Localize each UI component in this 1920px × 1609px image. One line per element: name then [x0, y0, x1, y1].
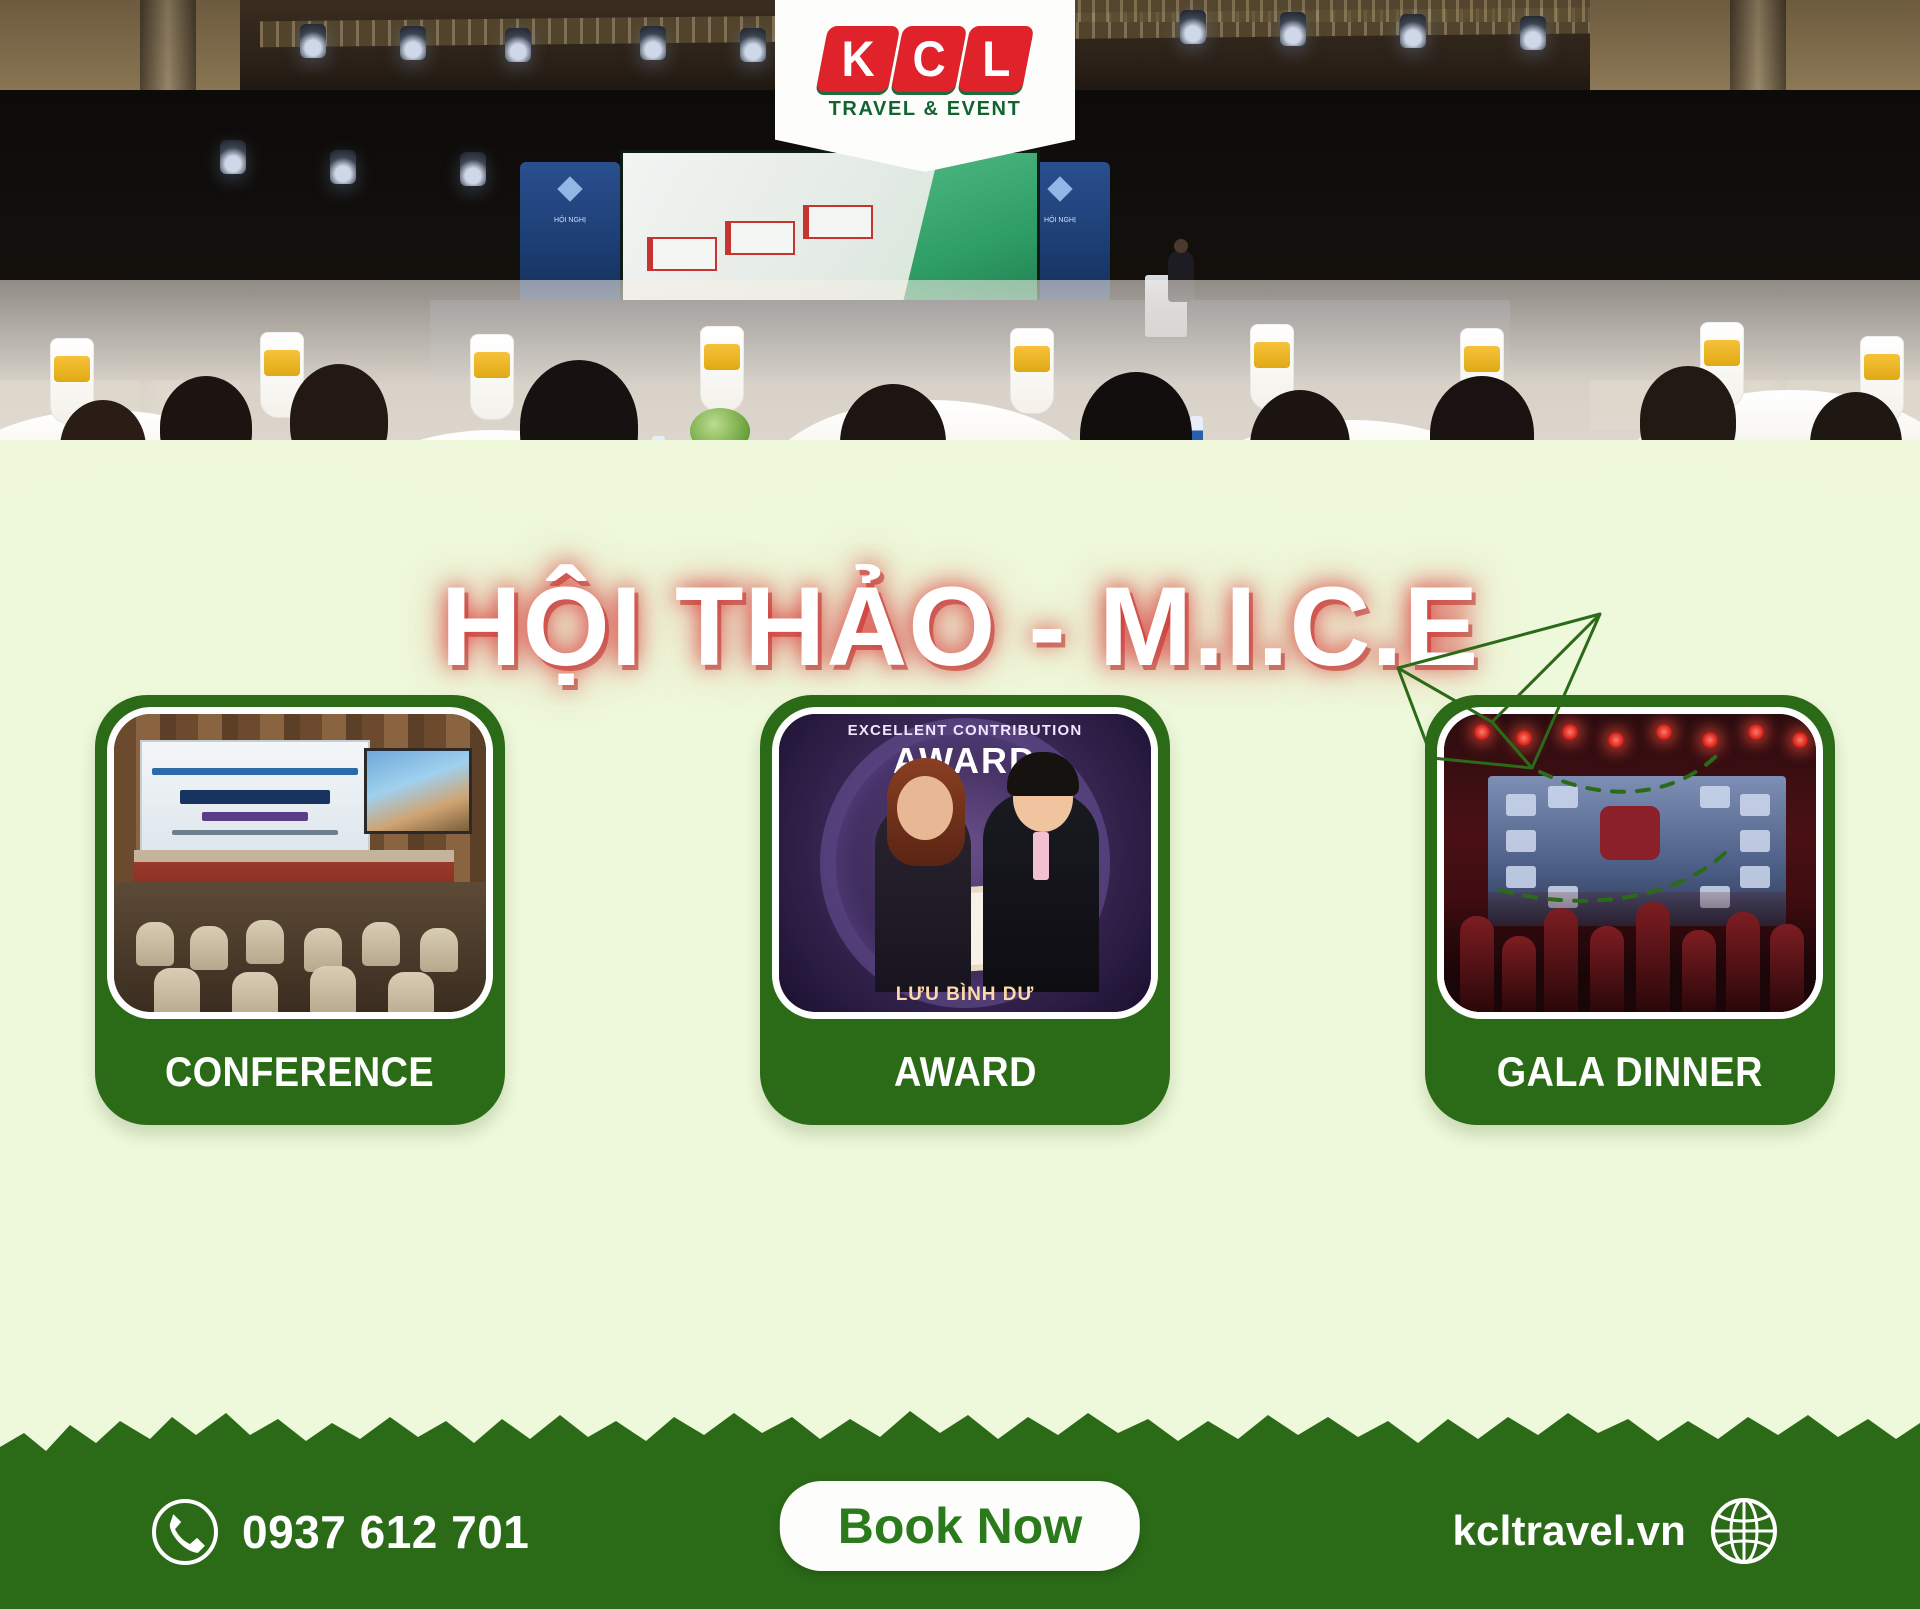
- logo-letter-l: L: [958, 26, 1035, 92]
- photo-chair: [362, 922, 400, 966]
- crowd-person: [1544, 908, 1578, 1012]
- stage-light: [220, 140, 246, 174]
- photo-chair: [246, 920, 284, 964]
- photo-chair: [310, 966, 356, 1016]
- card-conference-photo: [107, 707, 493, 1019]
- card-conference-label: CONFERENCE: [165, 1019, 434, 1125]
- website-link[interactable]: kcltravel.vn: [1452, 1495, 1780, 1567]
- photo-banner-screen: [140, 740, 370, 858]
- photo-chair: [136, 922, 174, 966]
- spotlight: [1520, 16, 1546, 50]
- stage-light: [460, 152, 486, 186]
- screen-bar: [647, 237, 717, 271]
- banner-line: [202, 812, 308, 821]
- paper-plane-icon: [1380, 590, 1910, 920]
- card-conference[interactable]: CONFERENCE: [95, 695, 505, 1125]
- crowd-person: [1502, 936, 1536, 1012]
- screen-bar: [803, 205, 873, 239]
- chair: [1010, 328, 1054, 414]
- book-now-button[interactable]: Book Now: [780, 1481, 1140, 1571]
- website-url: kcltravel.vn: [1452, 1507, 1686, 1555]
- screen-content-bars: [647, 195, 907, 275]
- chair: [470, 334, 514, 420]
- photo-chair: [388, 972, 434, 1019]
- phone-number: 0937 612 701: [242, 1505, 529, 1559]
- photo-chair: [420, 928, 458, 972]
- phone-icon: [150, 1497, 220, 1567]
- logo-letter-k-text: K: [841, 34, 874, 84]
- card-award-label: AWARD: [894, 1019, 1037, 1125]
- brand-logo-badge[interactable]: K C L TRAVEL & EVENT: [775, 0, 1075, 172]
- banner-line: [180, 790, 330, 804]
- photo-side-tv: [364, 748, 472, 834]
- award-photo-top-text: EXCELLENT CONTRIBUTION: [779, 722, 1151, 739]
- chair: [700, 326, 744, 412]
- brand-tagline: TRAVEL & EVENT: [829, 98, 1022, 121]
- stage-light: [330, 150, 356, 184]
- photo-chair: [232, 972, 278, 1019]
- award-person-left-face: [897, 776, 953, 840]
- plane-trail-dashes: [1500, 846, 1732, 901]
- crowd-person: [1770, 924, 1804, 1012]
- crowd-person: [1590, 926, 1624, 1012]
- logo-letter-l-text: L: [982, 34, 1010, 84]
- award-photo-bottom-text: LƯU BÌNH DƯ: [779, 984, 1151, 1006]
- logo-letter-k: K: [816, 26, 901, 92]
- logo-letter-c-text: C: [912, 34, 945, 84]
- kcl-wordmark: K C L: [822, 26, 1028, 92]
- banner-line: [172, 830, 338, 835]
- spotlight: [400, 26, 426, 60]
- screen-bar: [725, 221, 795, 255]
- contact-phone[interactable]: 0937 612 701: [150, 1497, 529, 1567]
- screen-logo-icon: [1047, 176, 1072, 201]
- side-screen-text: HỘI NGHỊ: [528, 216, 612, 227]
- spotlight: [300, 24, 326, 58]
- crowd-person: [1682, 930, 1716, 1012]
- photo-chair: [154, 968, 200, 1018]
- globe-icon: [1708, 1495, 1780, 1567]
- spotlight: [1180, 10, 1206, 44]
- spotlight: [1400, 14, 1426, 48]
- card-award-photo: EXCELLENT CONTRIBUTION AWARD LƯU BÌNH DƯ: [772, 707, 1158, 1019]
- crowd-person: [1460, 916, 1494, 1012]
- spotlight: [505, 28, 531, 62]
- banner-line: [152, 768, 358, 775]
- photo-chair: [190, 926, 228, 970]
- spotlight: [740, 28, 766, 62]
- award-photo-main-text: AWARD: [779, 740, 1151, 782]
- boutonniere: [1033, 832, 1049, 880]
- logo-letter-c: C: [891, 26, 968, 92]
- crowd-person: [1726, 912, 1760, 1012]
- poster-canvas: HỘI NGHỊ HỘI NGHỊ: [0, 0, 1920, 1609]
- spotlight: [1280, 12, 1306, 46]
- spotlight: [640, 26, 666, 60]
- plane-trail-dashes: [1540, 750, 1722, 792]
- card-award[interactable]: EXCELLENT CONTRIBUTION AWARD LƯU BÌNH DƯ…: [760, 695, 1170, 1125]
- screen-logo-icon: [557, 176, 582, 201]
- card-gala-dinner-label: GALA DINNER: [1497, 1019, 1763, 1125]
